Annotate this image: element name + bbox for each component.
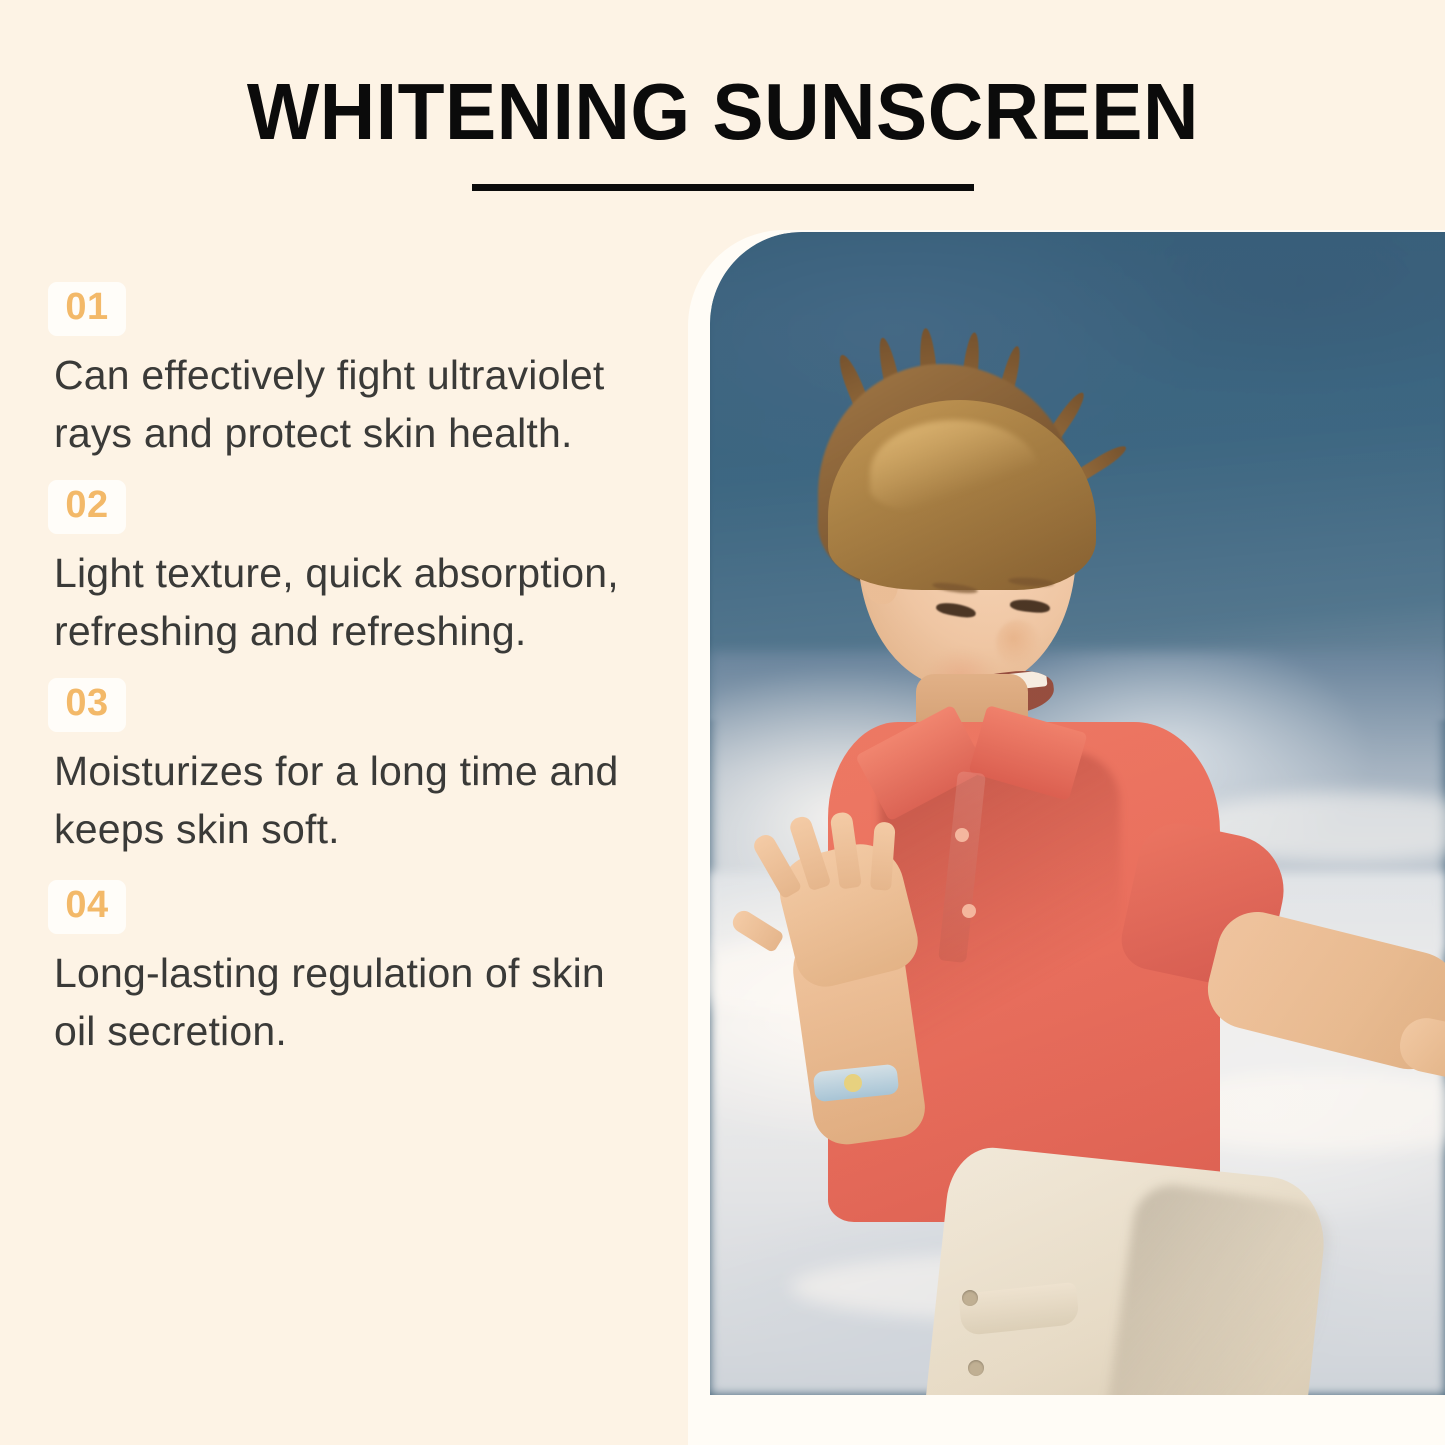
feature-list: 01 Can effectively fight ultraviolet ray…: [48, 282, 658, 1061]
feature-text-01: Can effectively fight ultraviolet rays a…: [54, 346, 654, 462]
shirt-button-top: [955, 828, 969, 842]
poster-header: WHITENING SUNSCREEN: [0, 0, 1445, 232]
feature-badge-04: 04: [48, 880, 126, 934]
feature-badge-03: 03: [48, 678, 126, 732]
beach-scene: [710, 232, 1445, 1395]
feature-badge-02: 02: [48, 480, 126, 534]
shorts-rivet-3: [962, 1290, 978, 1306]
title-underline-divider: [472, 184, 974, 191]
feature-item-04: 04 Long-lasting regulation of skin oil s…: [48, 880, 658, 1060]
feature-text-04: Long-lasting regulation of skin oil secr…: [54, 944, 654, 1060]
sunscreen-feature-poster: WHITENING SUNSCREEN 01 Can effectively f…: [0, 0, 1445, 1445]
feature-number-01: 01: [65, 286, 108, 328]
feature-text-02: Light texture, quick absorption, refresh…: [54, 544, 654, 660]
product-lifestyle-photo: [710, 232, 1445, 1395]
feature-item-03: 03 Moisturizes for a long time and keeps…: [48, 678, 658, 858]
feature-number-03: 03: [65, 682, 108, 724]
nose: [996, 620, 1040, 666]
thumb: [729, 907, 785, 953]
feature-number-02: 02: [65, 484, 108, 526]
feature-number-04: 04: [65, 884, 108, 926]
shirt-button-bottom: [962, 904, 976, 918]
page-title: WHITENING SUNSCREEN: [246, 72, 1198, 152]
shorts-rivet-1: [968, 1360, 984, 1376]
feature-item-02: 02 Light texture, quick absorption, refr…: [48, 480, 658, 660]
feature-item-01: 01 Can effectively fight ultraviolet ray…: [48, 282, 658, 462]
wristband-charm: [844, 1074, 862, 1092]
boy-figure: [710, 232, 1445, 1395]
feature-text-03: Moisturizes for a long time and keeps sk…: [54, 742, 654, 858]
feature-badge-01: 01: [48, 282, 126, 336]
